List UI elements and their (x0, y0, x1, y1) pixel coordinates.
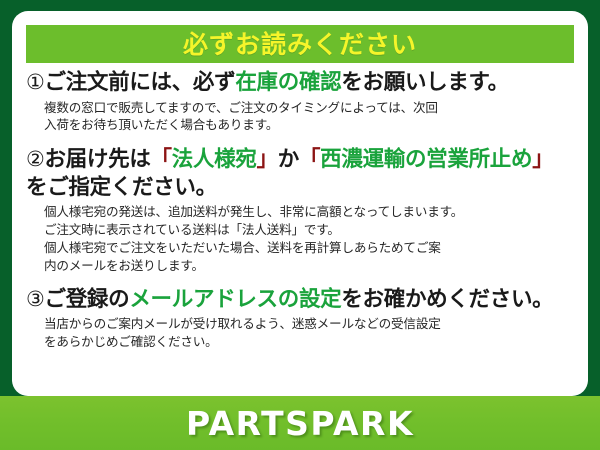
notice-item-3: ③ご登録のメールアドレスの設定をお確かめください。 当店からのご案内メールが受け… (26, 286, 578, 351)
item-1-sub-line-1: 複数の窓口で販売してますので、ご注文のタイミングによっては、次回 (44, 99, 578, 117)
notice-item-2-heading-line2: をご指定ください。 (26, 174, 578, 202)
notice-item-2-description: 個人様宅宛の発送は、追加送料が発生し、非常に高額となってしまいます。 ご注文時に… (44, 203, 578, 275)
item-2-sub-line-2: ご注文時に表示されている送料は「法人送料」です。 (44, 221, 578, 239)
item-3-heading-highlight: メールアドレスの設定 (129, 287, 341, 312)
notice-item-1-description: 複数の窓口で販売してますので、ご注文のタイミングによっては、次回 入荷をお待ち頂… (44, 99, 578, 135)
item-3-heading-part-3: をお確かめください。 (341, 287, 553, 312)
item-2-heading-highlight-2: 西濃運輸の営業所止め (320, 147, 532, 172)
item-2-bracket-open-1: 「 (151, 147, 172, 172)
item-1-heading-part-3: をお願いします。 (341, 70, 508, 95)
item-2-marker: ② (26, 147, 45, 171)
item-3-marker: ③ (26, 287, 45, 311)
notice-item-1-heading: ①ご注文前には、必ず在庫の確認をお願いします。 (26, 69, 578, 97)
header-title: 必ずお読みください (183, 32, 417, 57)
notice-item-3-description: 当店からのご案内メールが受け取れるよう、迷惑メールなどの受信設定 をあらかじめご… (44, 315, 578, 351)
item-2-bracket-open-2: 「 (299, 147, 320, 172)
item-2-sub-line-4: 内のメールをお送りします。 (44, 257, 578, 275)
brand-footer: PARTSPARK (0, 396, 600, 450)
item-3-sub-line-2: をあらかじめご確認ください。 (44, 333, 578, 351)
item-2-sub-line-3: 個人様宅宛でご注文をいただいた場合、送料を再計算しあらためてご案 (44, 239, 578, 257)
item-1-marker: ① (26, 70, 45, 94)
item-2-heading-part-1: お届け先は (45, 147, 151, 172)
item-2-bracket-close-2: 」 (532, 147, 553, 172)
notice-card: 必ずお読みください ①ご注文前には、必ず在庫の確認をお願いします。 複数の窓口で… (12, 11, 588, 396)
notice-item-1: ①ご注文前には、必ず在庫の確認をお願いします。 複数の窓口で販売してますので、ご… (26, 69, 578, 134)
item-2-bracket-close-1: 」 (257, 147, 278, 172)
item-2-heading-conjunction: か (278, 147, 299, 172)
item-3-sub-line-1: 当店からのご案内メールが受け取れるよう、迷惑メールなどの受信設定 (44, 315, 578, 333)
item-3-heading-part-1: ご登録の (45, 287, 130, 312)
item-2-sub-line-1: 個人様宅宛の発送は、追加送料が発生し、非常に高額となってしまいます。 (44, 203, 578, 221)
notice-list: ①ご注文前には、必ず在庫の確認をお願いします。 複数の窓口で販売してますので、ご… (26, 69, 578, 351)
notice-item-3-heading: ③ご登録のメールアドレスの設定をお確かめください。 (26, 286, 578, 314)
brand-name: PARTSPARK (186, 407, 414, 440)
item-1-sub-line-2: 入荷をお待ち頂いただく場合もあります。 (44, 116, 578, 134)
item-2-heading-highlight-1: 法人様宛 (172, 147, 257, 172)
notice-frame: 必ずお読みください ①ご注文前には、必ず在庫の確認をお願いします。 複数の窓口で… (0, 0, 600, 450)
notice-item-2: ②お届け先は「法人様宛」か「西濃運輸の営業所止め」 をご指定ください。 個人様宅… (26, 146, 578, 275)
notice-item-2-heading-line1: ②お届け先は「法人様宛」か「西濃運輸の営業所止め」 (26, 146, 578, 174)
header-banner: 必ずお読みください (26, 25, 574, 63)
item-1-heading-highlight: 在庫の確認 (235, 70, 341, 95)
item-1-heading-part-1: ご注文前には、必ず (45, 70, 236, 95)
